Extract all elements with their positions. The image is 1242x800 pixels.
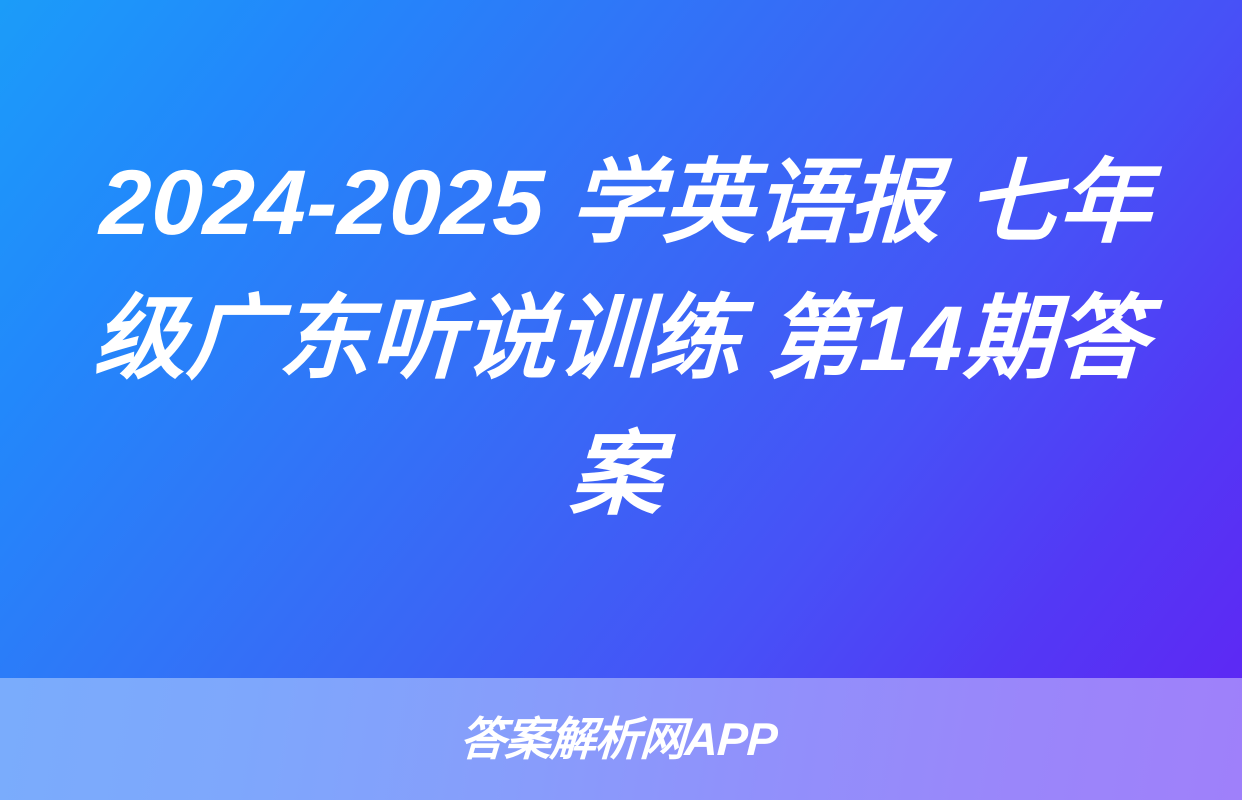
hero-section: 2024-2025 学英语报 七年级广东听说训练 第14期答案 bbox=[0, 0, 1242, 678]
watermark-band: 答案解析网APP bbox=[0, 678, 1242, 800]
page-title: 2024-2025 学英语报 七年级广东听说训练 第14期答案 bbox=[59, 135, 1183, 543]
brand-watermark: 答案解析网APP bbox=[458, 716, 777, 762]
poster-root: 2024-2025 学英语报 七年级广东听说训练 第14期答案 答案解析网APP bbox=[0, 0, 1242, 800]
